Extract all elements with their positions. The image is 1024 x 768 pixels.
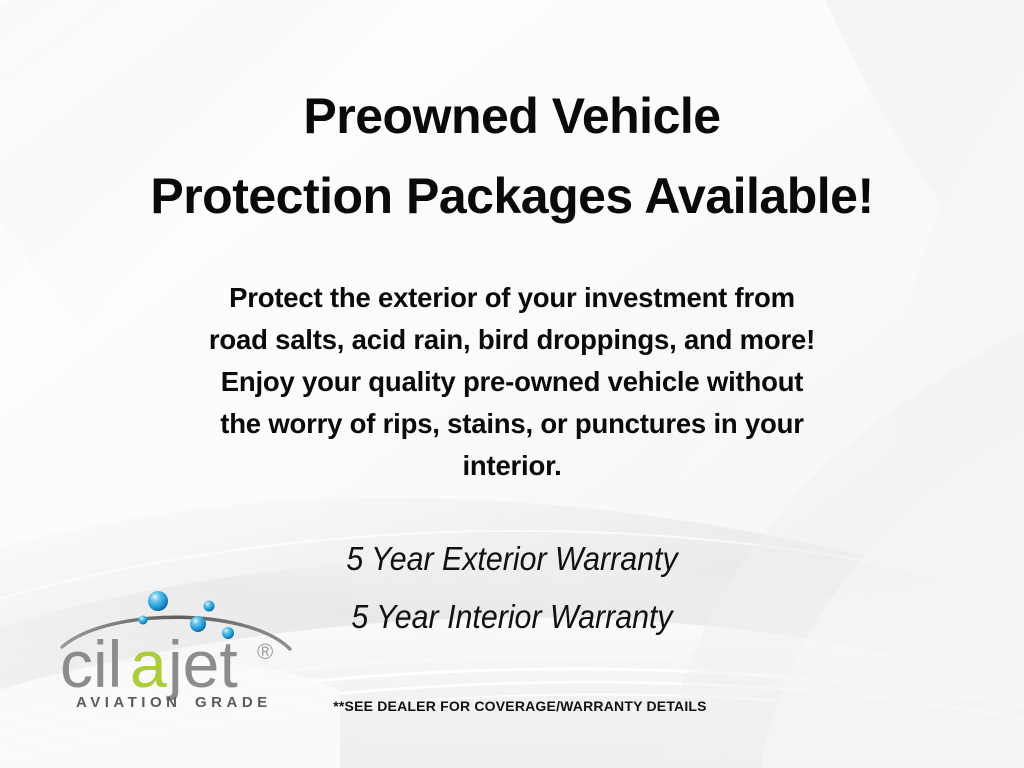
body-copy: Protect the exterior of your investment … [0, 277, 1024, 487]
cilajet-logo: cil a jet ® AVIATION GRADE [58, 583, 298, 713]
bubble-icon [148, 591, 168, 611]
logo-tagline-grade: GRADE [195, 694, 272, 711]
logo-wordmark-a: a [130, 627, 167, 701]
warranty-line-exterior: 5 Year Exterior Warranty [41, 530, 983, 588]
logo-wordmark-cil: cil [60, 627, 122, 701]
logo-tagline-aviation: AVIATION [76, 694, 181, 711]
logo-wordmark: cil a jet ® [60, 627, 273, 701]
page-title: Preowned Vehicle Protection Packages Ava… [0, 76, 1024, 236]
bubble-icon [139, 616, 148, 625]
bubble-icon [204, 601, 215, 612]
logo-registered-mark: ® [257, 639, 273, 664]
logo-wordmark-jet: jet [166, 627, 238, 701]
slide-canvas: Preowned Vehicle Protection Packages Ava… [0, 0, 1024, 768]
logo-tagline: AVIATION GRADE [76, 694, 272, 711]
